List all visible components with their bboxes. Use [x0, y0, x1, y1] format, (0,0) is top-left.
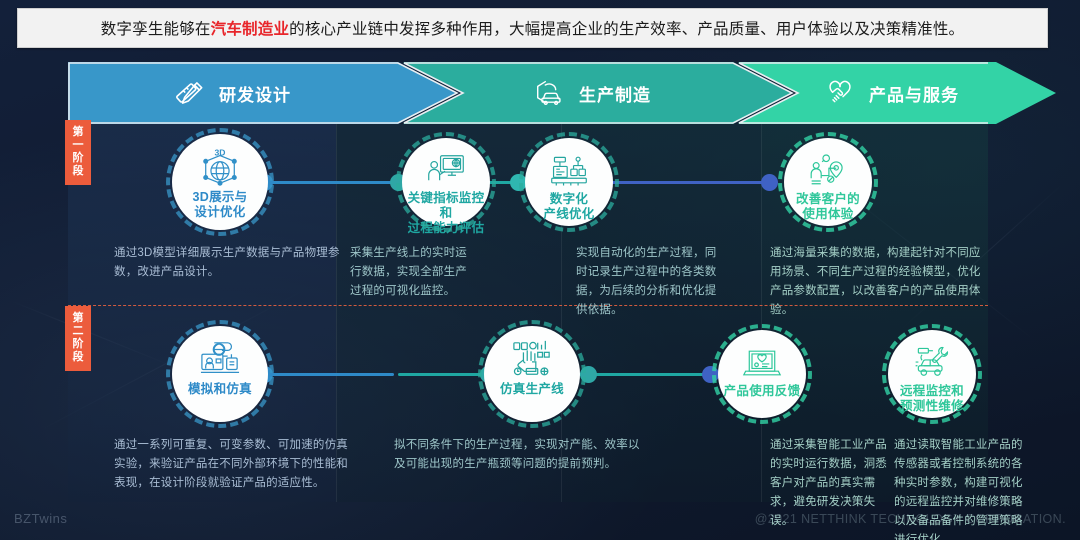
- node-card-simulation[interactable]: 模拟和仿真: [172, 326, 268, 422]
- stage-tab-2[interactable]: 第 二 阶 段: [65, 306, 91, 371]
- node-description-1: 通过3D模型详细展示生产数据与产品物理参数，改进产品设计。: [114, 244, 346, 282]
- node-card-simulated-line[interactable]: 仿真生产线: [484, 326, 580, 422]
- arrow-step-manufacturing[interactable]: 生产制造: [403, 62, 793, 124]
- dashed-ring: [712, 324, 812, 424]
- dashed-ring: [882, 324, 982, 424]
- node-card-customer-experience[interactable]: 改善客户的 使用体验: [784, 138, 872, 226]
- title-banner: 数字孪生能够在汽车制造业的核心产业链中发挥多种作用，大幅提高企业的生产效率、产品…: [17, 8, 1048, 48]
- stage-tab-char: 一: [65, 139, 91, 152]
- stage-tab-char: 第: [65, 126, 91, 139]
- connector-line-5-6: [264, 373, 394, 376]
- node-description-6: 拟不同条件下的生产过程，实现对产能、效率以及可能出现的生产瓶颈等问题的提前预判。: [394, 436, 646, 474]
- node-card-digital-line[interactable]: 数字化 产线优化: [525, 138, 613, 226]
- page-title: 数字孪生能够在汽车制造业的核心产业链中发挥多种作用，大幅提高企业的生产效率、产品…: [101, 17, 965, 39]
- car-outline-icon: [533, 76, 567, 110]
- connector-line-1-2: [264, 181, 394, 184]
- node-card-product-feedback[interactable]: 产品使用反馈: [718, 330, 806, 418]
- dashed-ring: [166, 320, 274, 428]
- arrow-step-label: 生产制造: [579, 81, 651, 106]
- connector-line-6-7a: [398, 373, 488, 376]
- arrow-step-research-design[interactable]: 研发设计: [68, 62, 458, 124]
- connector-line-3-4b: [596, 181, 768, 184]
- arrow-step-label: 产品与服务: [869, 81, 959, 106]
- connector-line-7-8: [586, 373, 712, 376]
- dashed-ring: [166, 128, 274, 236]
- stage-tab-char: 段: [65, 165, 91, 178]
- stage-tab-char: 二: [65, 325, 91, 338]
- footer-copyright: @2021 NETTHINK TECHNOLOGY CORPORATION.: [755, 512, 1066, 526]
- stage-tab-char: 阶: [65, 152, 91, 165]
- dashed-ring: [478, 320, 586, 428]
- stage-tab-char: 段: [65, 351, 91, 364]
- arrow-step-label: 研发设计: [219, 81, 291, 106]
- node-description-2: 采集生产线上的实时运行数据，实现全部生产过程的可视化监控。: [350, 244, 470, 301]
- ruler-pencil-icon: [173, 76, 207, 110]
- title-highlight: 汽车制造业: [211, 21, 290, 38]
- dashed-ring: [519, 132, 619, 232]
- stage-tab-char: 阶: [65, 338, 91, 351]
- node-description-4: 通过海量采集的数据，构建起针对不同应用场景、不同生产过程的经验模型，优化产品参数…: [770, 244, 988, 320]
- title-before: 数字孪生能够在: [101, 21, 211, 38]
- slide-canvas: 数字孪生能够在汽车制造业的核心产业链中发挥多种作用，大幅提高企业的生产效率、产品…: [0, 0, 1080, 540]
- connector-node-4: [761, 174, 778, 191]
- handshake-icon: [823, 76, 857, 110]
- stage-tab-1[interactable]: 第 一 阶 段: [65, 120, 91, 185]
- node-card-kpi-monitor[interactable]: 关键指标监控和 过程能力评估: [402, 138, 490, 226]
- stage-tab-char: 第: [65, 312, 91, 325]
- phase-arrow-ribbon: 研发设计 生产制造: [68, 62, 988, 124]
- footer-brand: BZTwins: [14, 511, 67, 526]
- phase-board: 第 一 阶 段 第 二 阶 段: [68, 124, 988, 502]
- dashed-ring: [396, 132, 496, 232]
- node-card-remote-maintenance[interactable]: 远程监控和 预测性维修: [888, 330, 976, 418]
- node-description-5: 通过一系列可重复、可变参数、可加速的仿真实验，来验证产品在不同外部环境下的性能和…: [114, 436, 358, 493]
- node-description-3: 实现自动化的生产过程，同时记录生产过程中的各类数据，为后续的分析和优化提供依据。: [576, 244, 726, 320]
- node-card-3d-display[interactable]: 3D 3D展示与 设计优化: [172, 134, 268, 230]
- dashed-ring: [778, 132, 878, 232]
- title-after: 的核心产业链中发挥多种作用，大幅提高企业的生产效率、产品质量、用户体验以及决策精…: [289, 21, 964, 38]
